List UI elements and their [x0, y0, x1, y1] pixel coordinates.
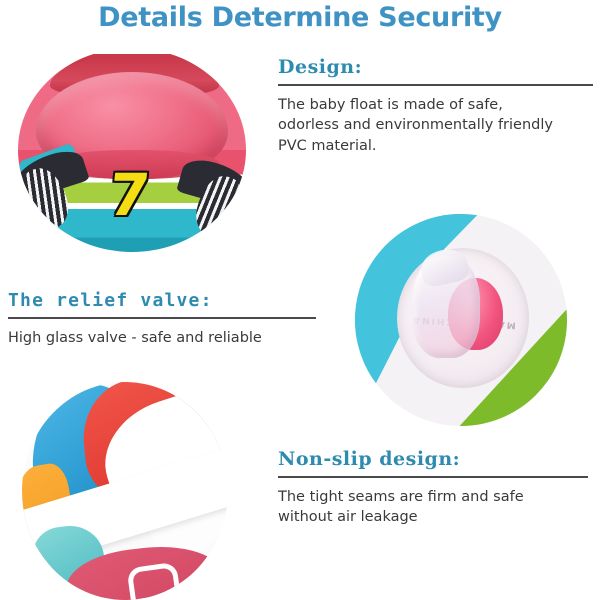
section-relief-valve-body: High glass valve - safe and reliable: [8, 328, 316, 349]
section-design-divider: [278, 84, 593, 86]
section-nonslip-divider: [278, 476, 588, 478]
photo-seams-content: [22, 382, 228, 600]
section-relief-valve: The relief valve: High glass valve - saf…: [8, 291, 316, 348]
section-design-body: The baby float is made of safe, odorless…: [278, 95, 593, 157]
race-number-graphic: 7: [106, 166, 152, 224]
photo-seat-content: 7: [18, 48, 246, 252]
photo-baby-float-seat: 7: [18, 48, 246, 252]
section-relief-valve-heading: The relief valve:: [8, 291, 316, 311]
page-title: Details Determine Security: [0, 2, 600, 33]
section-design: Design: The baby float is made of safe, …: [278, 57, 593, 157]
photo-valve-content: MADE IN CHINA: [355, 214, 567, 426]
section-design-heading: Design:: [278, 57, 593, 78]
photo-relief-valve: MADE IN CHINA: [355, 214, 567, 426]
section-nonslip-heading: Non-slip design:: [278, 449, 588, 470]
seam-logo-letter: [127, 562, 182, 600]
section-nonslip-body: The tight seams are firm and safe withou…: [278, 487, 588, 528]
section-nonslip-design: Non-slip design: The tight seams are fir…: [278, 449, 588, 528]
photo-seams: [22, 382, 228, 600]
section-relief-valve-divider: [8, 317, 316, 319]
